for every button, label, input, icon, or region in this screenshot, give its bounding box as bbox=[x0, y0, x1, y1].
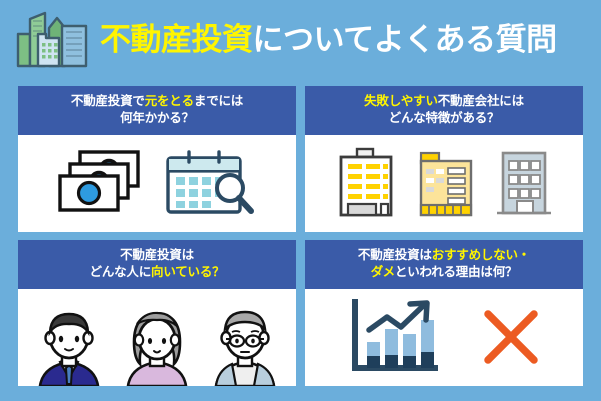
card-title-seg: 不動産会社には bbox=[438, 94, 524, 108]
card-title-seg: までには bbox=[194, 94, 243, 108]
card-title: 不動産投資は どんな人に向いている？ bbox=[18, 240, 296, 289]
faq-infographic: 不動産投資についてよくある質問 不動産投資で元をとるまでには 何年かかる？ bbox=[0, 0, 601, 401]
card-title: 不動産投資で元をとるまでには 何年かかる？ bbox=[18, 86, 296, 135]
card-illustration bbox=[18, 289, 296, 386]
bar-chart-up-icon bbox=[347, 298, 439, 376]
card-title-seg-highlight: 元をとる bbox=[145, 94, 194, 108]
page-title-rest: についてよくある質問 bbox=[253, 22, 557, 57]
person-senior-man-icon bbox=[206, 304, 284, 386]
building-white-icon bbox=[331, 145, 401, 221]
page-title: 不動産投資についてよくある質問 bbox=[100, 24, 557, 55]
faq-card-not-recommended[interactable]: 不動産投資はおすすめしない・ ダメといわれる理由は何？ bbox=[305, 240, 583, 386]
building-gold-icon bbox=[415, 145, 477, 221]
faq-card-return-period[interactable]: 不動産投資で元をとるまでには 何年かかる？ bbox=[18, 86, 296, 232]
card-title-seg: 何年かかる？ bbox=[120, 111, 194, 125]
card-title-seg-highlight: 失敗しやすい bbox=[364, 94, 438, 108]
card-title-seg-highlight: 向いている？ bbox=[151, 265, 224, 279]
faq-card-grid: 不動産投資で元をとるまでには 何年かかる？ bbox=[18, 86, 583, 386]
page-title-highlight: 不動産投資 bbox=[100, 22, 253, 57]
card-illustration bbox=[305, 135, 583, 232]
header: 不動産投資についてよくある質問 bbox=[0, 0, 601, 78]
card-title-seg-highlight: おすすめしない・ bbox=[432, 248, 530, 262]
faq-card-who-suited[interactable]: 不動産投資は どんな人に向いている？ bbox=[18, 240, 296, 386]
card-illustration bbox=[305, 289, 583, 386]
cross-mark-icon bbox=[481, 307, 541, 367]
faq-card-bad-company[interactable]: 失敗しやすい不動産会社には どんな特徴がある？ bbox=[305, 86, 583, 232]
money-bills-icon bbox=[56, 146, 148, 220]
card-title-seg: 不動産投資で bbox=[71, 94, 145, 108]
calendar-search-icon bbox=[162, 146, 258, 220]
card-title: 不動産投資はおすすめしない・ ダメといわれる理由は何？ bbox=[305, 240, 583, 289]
building-gray-icon bbox=[491, 145, 557, 221]
card-title-seg-highlight: ダメ bbox=[371, 265, 395, 279]
card-illustration bbox=[18, 135, 296, 232]
card-title-seg: 不動産投資は bbox=[120, 248, 194, 262]
card-title: 失敗しやすい不動産会社には どんな特徴がある？ bbox=[305, 86, 583, 135]
city-buildings-icon bbox=[14, 8, 92, 70]
card-title-seg: どんな特徴がある？ bbox=[389, 111, 500, 125]
card-title-seg: といわれる理由は何？ bbox=[395, 265, 517, 279]
card-title-seg: どんな人に bbox=[90, 265, 152, 279]
card-title-seg: 不動産投資は bbox=[358, 248, 432, 262]
person-woman-icon bbox=[118, 304, 196, 386]
person-young-man-icon bbox=[30, 304, 108, 386]
